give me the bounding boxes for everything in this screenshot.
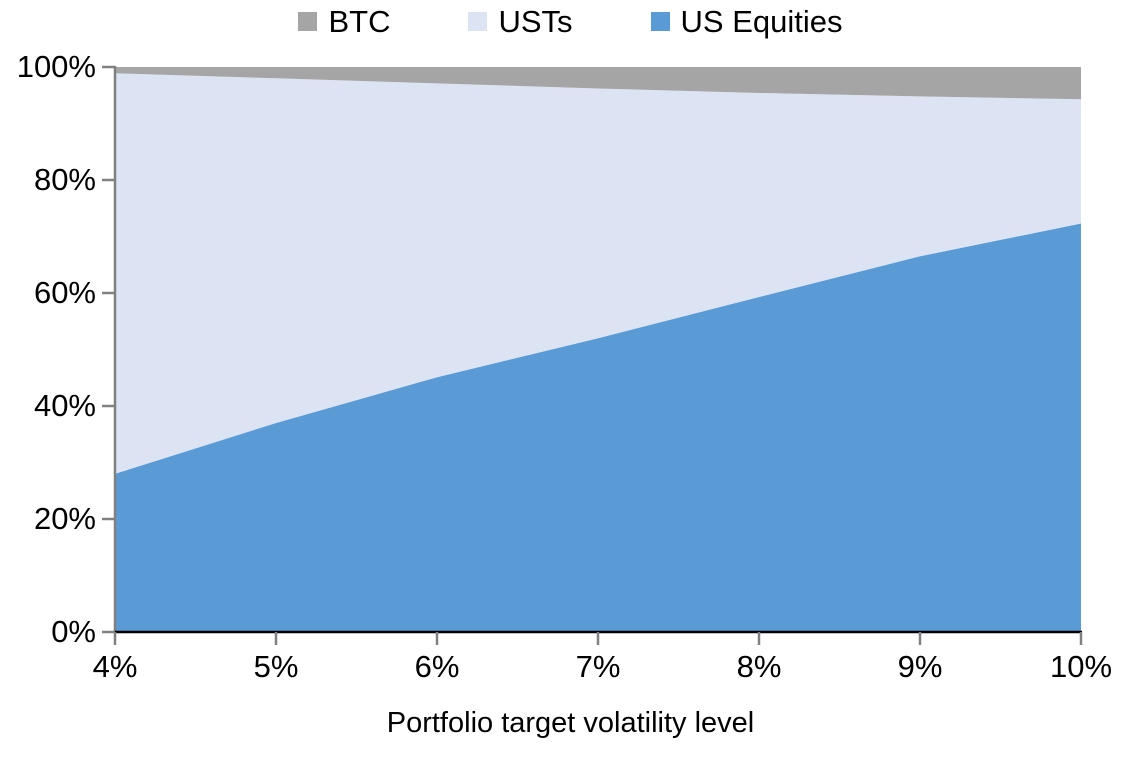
stacked-area-chart: BTC USTs US Equities 0%20%40%60%80%100% …	[0, 0, 1141, 763]
x-axis-tick-label: 10%	[1050, 651, 1112, 682]
x-axis-tick-label: 5%	[254, 651, 299, 682]
x-axis-tick-label: 4%	[93, 651, 138, 682]
x-axis-tick-label: 8%	[737, 651, 782, 682]
y-axis-tick-label: 80%	[0, 164, 96, 195]
x-axis-tick-label: 6%	[415, 651, 460, 682]
x-axis-tick-label: 9%	[898, 651, 943, 682]
series-areas	[115, 67, 1081, 632]
y-axis-tick-label: 40%	[0, 390, 96, 421]
x-axis-title: Portfolio target volatility level	[0, 706, 1141, 740]
y-axis-tick-label: 60%	[0, 277, 96, 308]
x-axis-tick-labels: 4%5%6%7%8%9%10%	[0, 645, 1141, 691]
x-axis-tick-label: 7%	[576, 651, 621, 682]
y-axis-tick-label: 0%	[0, 616, 96, 647]
y-axis-tick-label: 100%	[0, 51, 96, 82]
y-axis-tick-label: 20%	[0, 503, 96, 534]
